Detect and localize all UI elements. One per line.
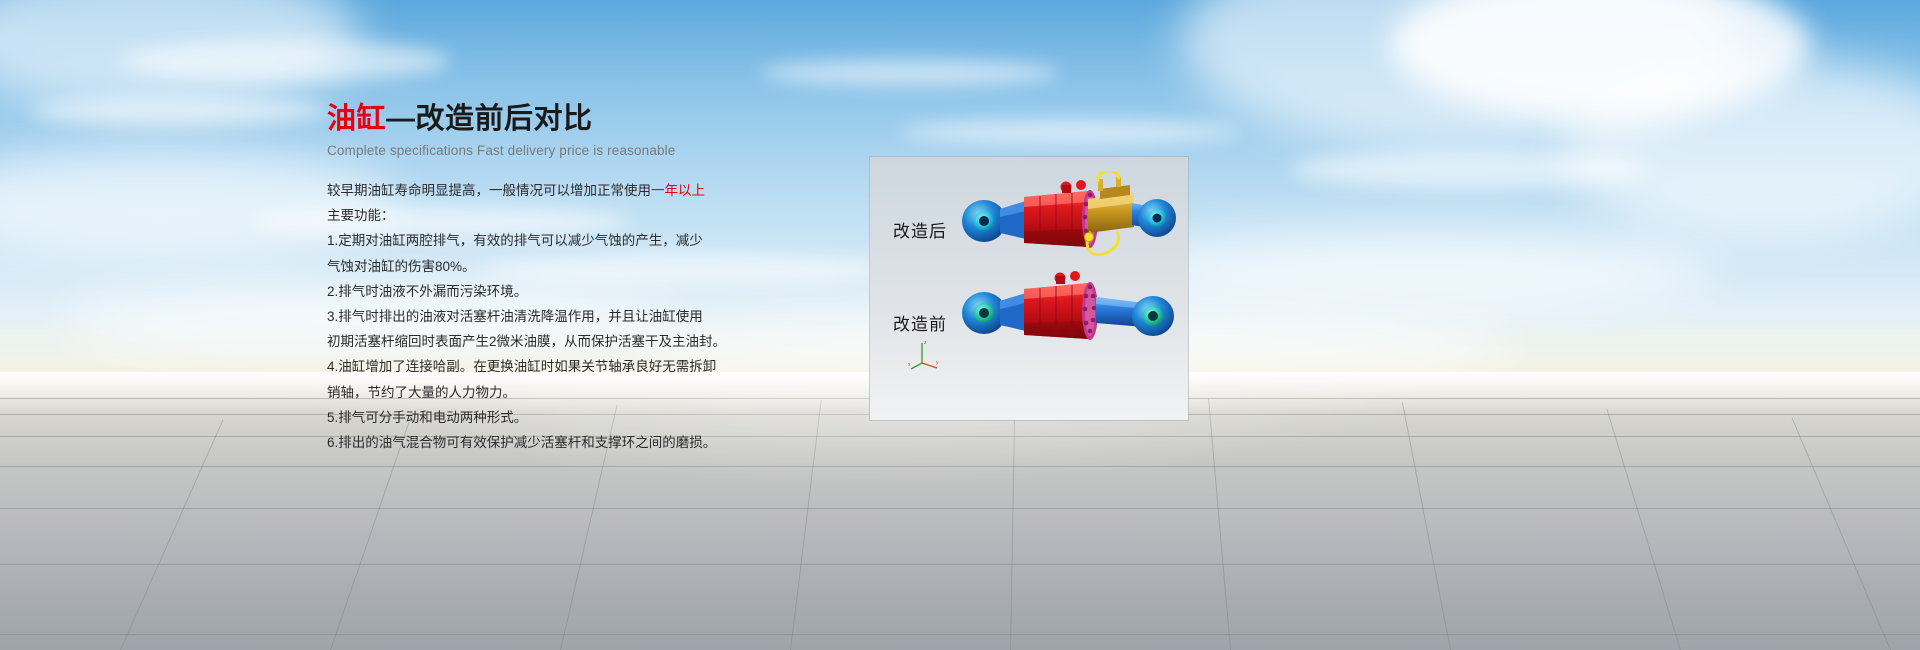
feature-line: 2.排气时油液不外漏而污染环境。: [327, 279, 867, 304]
cloud-shape: [30, 96, 330, 126]
cloud-shape: [760, 60, 1060, 86]
pavement-line: [0, 466, 1920, 467]
feature-line: 销轴，节约了大量的人力物力。: [327, 380, 867, 405]
label-before-modification: 改造前: [893, 310, 947, 335]
feature-line: 初期活塞杆缩回时表面产生2微米油膜，从而保护活塞干及主油封。: [327, 329, 867, 354]
pavement-line: [0, 564, 1920, 565]
feature-line-emphasis: 一年以上: [651, 183, 705, 198]
product-comparison-panel: 改造后 改造前 z x y: [870, 157, 1188, 420]
feature-text-block: 较早期油缸寿命明显提高，一般情况可以增加正常使用一年以上 主要功能： 1.定期对…: [327, 178, 867, 455]
feature-line: 气蚀对油缸的伤害80%。: [327, 254, 867, 279]
feature-line: 3.排气时排出的油液对活塞杆油清洗降温作用，并且让油缸使用: [327, 304, 867, 329]
pavement-line: [1792, 418, 1891, 650]
cylinder-before-modification: [948, 267, 1178, 377]
feature-line: 1.定期对油缸两腔排气，有效的排气可以减少气蚀的产生，减少: [327, 228, 867, 253]
feature-line: 4.油缸增加了连接哈副。在更换油缸时如果关节轴承良好无需拆卸: [327, 354, 867, 379]
feature-line: 主要功能：: [327, 203, 867, 228]
cylinder-after-modification: [948, 171, 1178, 281]
pavement-line: [0, 634, 1920, 635]
feature-line: 较早期油缸寿命明显提高，一般情况可以增加正常使用一年以上: [327, 178, 867, 203]
cloud-shape: [900, 120, 1240, 144]
cloud-shape: [1120, 230, 1720, 310]
cloud-shape: [120, 40, 450, 82]
page-title-rest: —改造前后对比: [386, 103, 593, 135]
svg-text:y: y: [936, 360, 939, 366]
page-title: 油缸—改造前后对比: [327, 104, 867, 136]
label-after-modification: 改造后: [893, 217, 947, 242]
page-title-highlight: 油缸: [327, 103, 386, 135]
page-subtitle: Complete specifications Fast delivery pr…: [327, 143, 867, 158]
pavement-line: [120, 420, 223, 650]
feature-line: 5.排气可分手动和电动两种形式。: [327, 405, 867, 430]
pavement-line: [0, 508, 1920, 509]
cloud-shape: [1290, 150, 1650, 190]
banner-stage: 油缸—改造前后对比 Complete specifications Fast d…: [0, 0, 1920, 650]
coordinate-axis-icon: z x y: [908, 339, 942, 371]
svg-text:x: x: [908, 362, 911, 368]
svg-text:z: z: [924, 340, 927, 346]
banner-copy: 油缸—改造前后对比 Complete specifications Fast d…: [327, 104, 867, 455]
pavement-line: [1402, 403, 1451, 650]
feature-line: 6.排出的油气混合物可有效保护减少活塞杆和支撑环之间的磨损。: [327, 430, 867, 455]
pavement-line: [0, 436, 1920, 437]
pavement-line: [1606, 409, 1681, 650]
